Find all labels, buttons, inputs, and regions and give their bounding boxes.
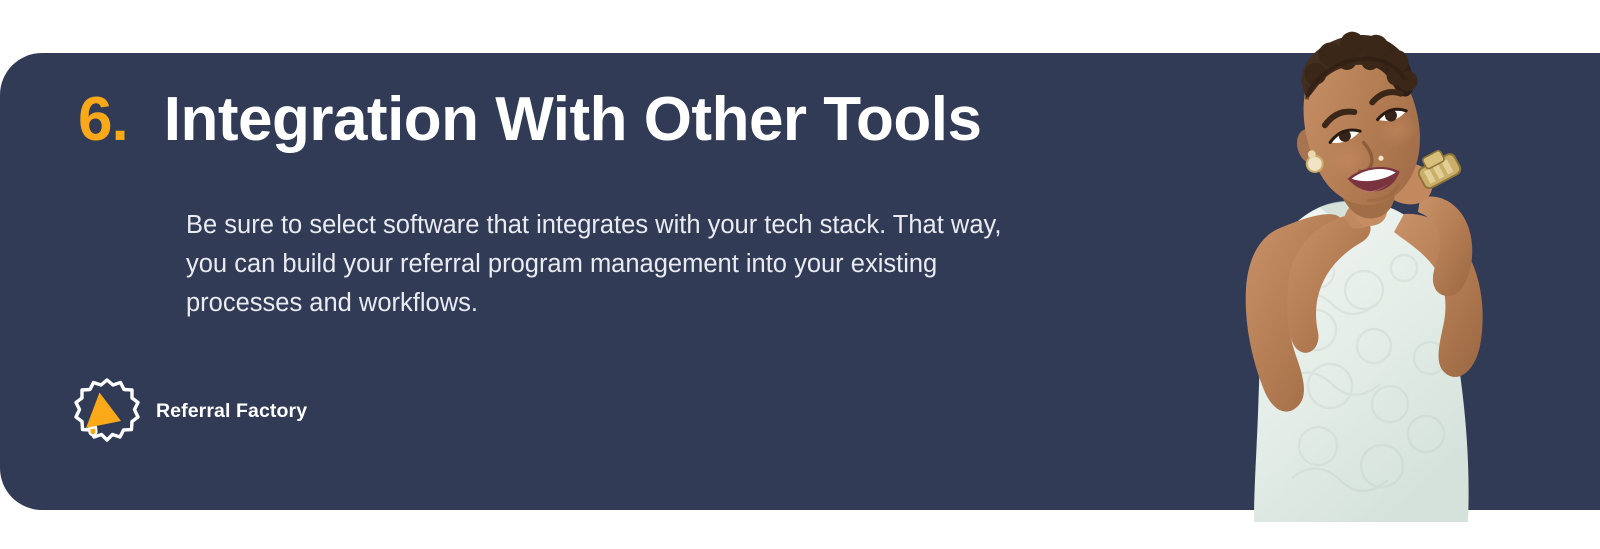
card-content: 6. Integration With Other Tools Be sure … <box>0 53 1150 510</box>
step-number: 6. <box>78 89 128 151</box>
page-title: 6. Integration With Other Tools <box>78 89 982 151</box>
megaphone-starburst-icon <box>72 376 142 446</box>
avatar <box>1168 22 1568 522</box>
body-line-1: Be sure to select software that integrat… <box>186 206 1116 245</box>
banner-stage: 6. Integration With Other Tools Be sure … <box>0 0 1600 549</box>
heading-title: Integration With Other Tools <box>164 89 982 151</box>
body-paragraph: Be sure to select software that integrat… <box>186 206 1116 323</box>
brand-lockup: Referral Factory <box>72 376 307 446</box>
body-line-2: you can build your referral program mana… <box>186 245 1116 284</box>
body-line-3: processes and workflows. <box>186 284 1116 323</box>
brand-name: Referral Factory <box>156 400 307 423</box>
